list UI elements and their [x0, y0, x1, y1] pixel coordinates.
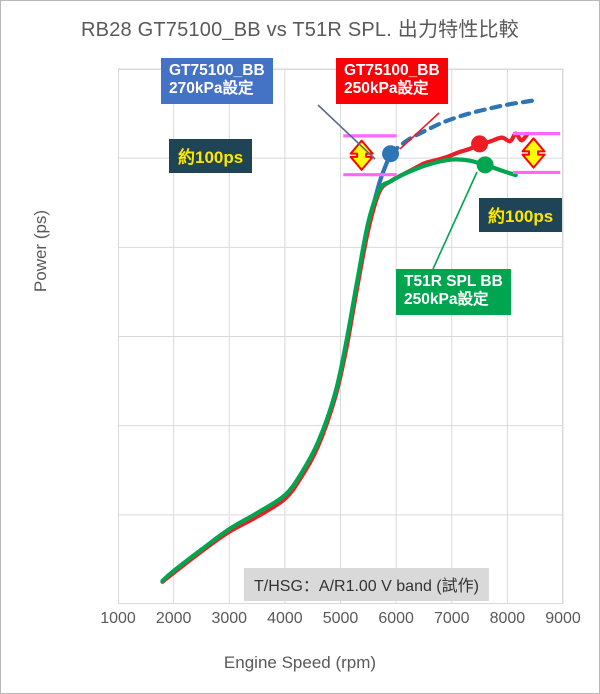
callout-gt75100-270kpa: GT75100_BB 270kPa設定	[161, 58, 273, 104]
callout-line-1: T51R SPL BB	[404, 273, 503, 291]
delta-arrow-left	[351, 141, 373, 170]
callout-line-2: 250kPa設定	[404, 291, 503, 309]
leader-line-red	[400, 113, 439, 149]
leader-line-green	[433, 172, 477, 269]
green-marker	[477, 156, 494, 173]
callout-line-1: GT75100_BB	[169, 62, 265, 80]
callout-gt75100-250kpa: GT75100_BB 250kPa設定	[336, 58, 448, 104]
delta-arrow-right	[523, 138, 545, 167]
series-line	[163, 159, 516, 580]
footnote-box: T/HSG：A/R1.00 V band (試作)	[244, 568, 489, 601]
callout-line-2: 250kPa設定	[344, 80, 440, 98]
callout-t51r-spl-250kpa: T51R SPL BB 250kPa設定	[396, 269, 511, 315]
leader-line-blue	[318, 105, 375, 159]
delta-arrows	[351, 138, 545, 169]
data-point-markers	[382, 135, 494, 173]
series-line	[163, 154, 391, 582]
callout-line-1: GT75100_BB	[344, 62, 440, 80]
red-marker	[471, 135, 488, 152]
blue-marker	[382, 145, 399, 162]
delta-label-right: 約100ps	[479, 198, 562, 232]
delta-label-left: 約100ps	[169, 139, 252, 173]
callout-line-2: 270kPa設定	[169, 80, 265, 98]
callout-leader-lines	[318, 105, 477, 269]
chart-root: RB28 GT75100_BB vs T51R SPL. 出力特性比較 Powe…	[1, 1, 599, 693]
series-line	[391, 100, 536, 154]
